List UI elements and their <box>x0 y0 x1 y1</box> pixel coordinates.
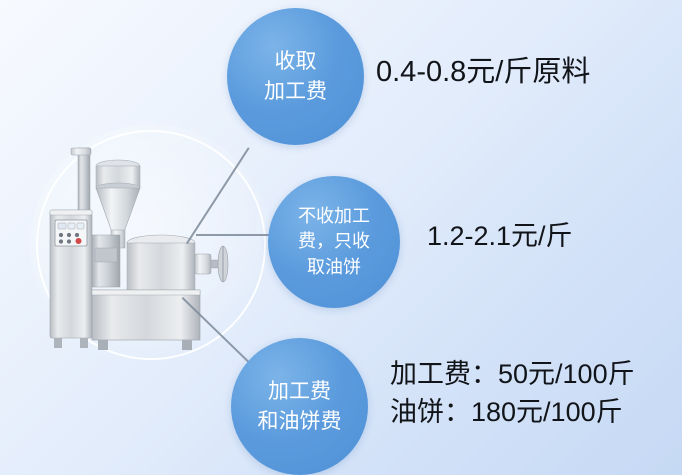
price-3-line-1: 加工费：50元/100斤 <box>390 355 635 393</box>
infographic-canvas: 收取 加工费 不收加工 费，只收 取油饼 加工费 和油饼费 0.4-0.8元/斤… <box>0 0 682 475</box>
price-3-line-2: 油饼：180元/100斤 <box>390 393 635 431</box>
bubble-3-line-2: 和油饼费 <box>258 407 342 437</box>
bubble-2-line-1: 不收加工 <box>298 204 370 230</box>
bubble-processing-fee-and-oil-cake-fee[interactable]: 加工费 和油饼费 <box>231 338 368 475</box>
machine-shaft-and-flywheel <box>195 246 228 282</box>
price-per-jin: 1.2-2.1元/斤 <box>427 214 573 253</box>
price-1-line-1: 0.4-0.8元/斤原料 <box>376 56 590 88</box>
price-per-jin-raw-material: 0.4-0.8元/斤原料 <box>376 48 590 90</box>
price-2-line-1: 1.2-2.1元/斤 <box>427 221 573 251</box>
connector-machine-to-bubble-2 <box>196 234 272 236</box>
bubble-1-line-2: 加工费 <box>264 77 327 107</box>
bubble-2-line-3: 取油饼 <box>307 255 361 281</box>
bubble-2-line-2: 费，只收 <box>298 229 370 255</box>
machine-control-cabinet <box>50 210 92 348</box>
machine-press-barrel <box>92 235 120 287</box>
price-processing-and-oil-cake: 加工费：50元/100斤 油饼：180元/100斤 <box>390 355 635 432</box>
bubble-charge-processing-fee[interactable]: 收取 加工费 <box>227 8 364 145</box>
bubble-1-line-1: 收取 <box>275 47 317 77</box>
bubble-no-fee-take-oil-cake[interactable]: 不收加工 费，只收 取油饼 <box>268 176 400 308</box>
bubble-3-line-1: 加工费 <box>268 377 331 407</box>
